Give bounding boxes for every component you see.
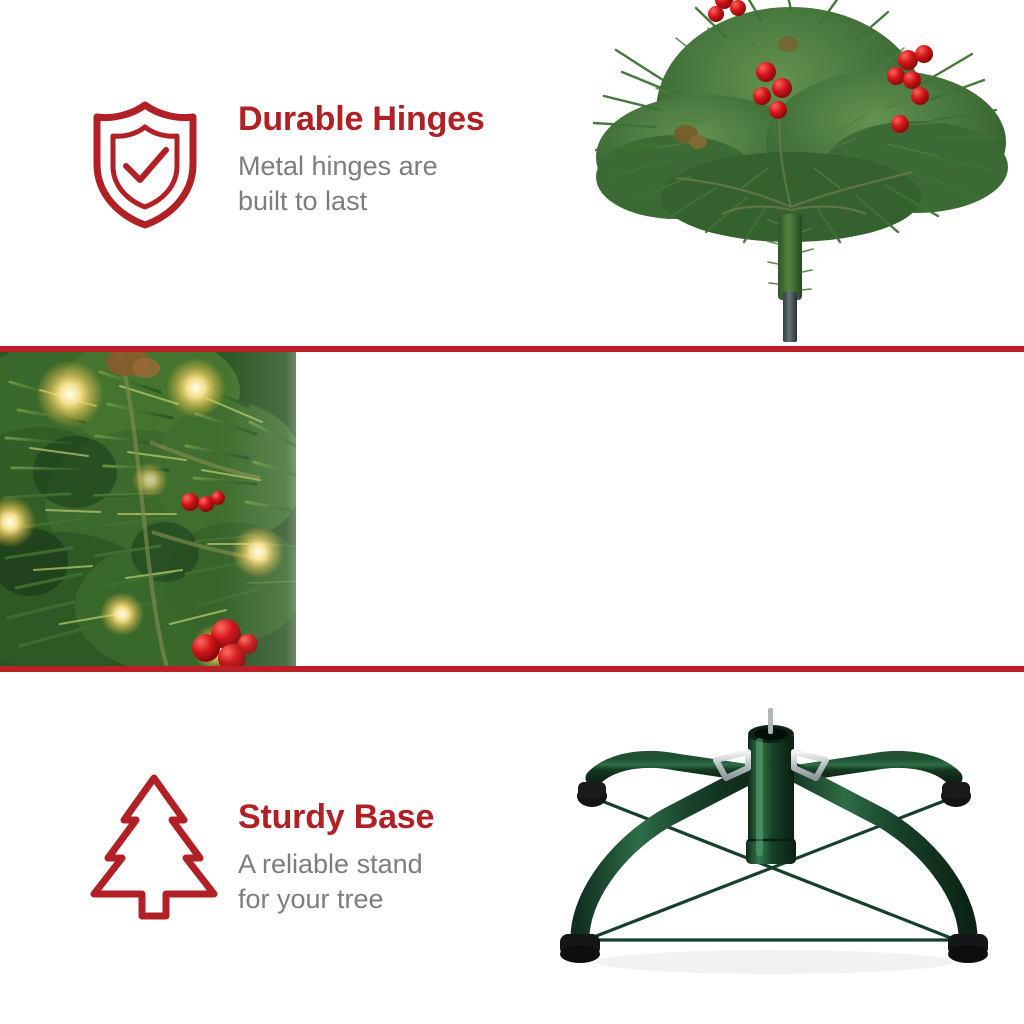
section-durable-hinges: Durable Hinges Metal hinges are built to… [0, 0, 1024, 350]
branch-photo-svg [0, 352, 340, 670]
feature-text-durable-hinges: Durable Hinges Metal hinges are built to… [238, 100, 485, 219]
feature-text-sturdy-base: Sturdy Base A reliable stand for your tr… [238, 798, 434, 917]
section-pvc-branches: PVC Branches Flame-retardant for safety … [0, 352, 1024, 670]
photo-lit-branch-closeup [0, 352, 340, 670]
feature-body-line-1: Metal hinges are [238, 151, 438, 181]
christmas-tree-icon [88, 772, 220, 922]
photo-christmas-tree-branches [556, 0, 1024, 348]
photo-tree-stand [516, 690, 1024, 1020]
feature-body-line-1: A reliable stand [238, 849, 423, 879]
stand-photo-svg [516, 690, 1024, 1020]
feature-body-line-2: for your tree [238, 884, 384, 914]
feature-infographic: Durable Hinges Metal hinges are built to… [0, 0, 1024, 1024]
section-sturdy-base: Sturdy Base A reliable stand for your tr… [0, 672, 1024, 1024]
feature-body-line-2: built to last [238, 186, 367, 216]
tree-photo-svg [556, 0, 1024, 348]
feature-heading: Durable Hinges [238, 100, 485, 139]
feature-heading: Sturdy Base [238, 798, 434, 837]
shield-check-icon [86, 98, 204, 230]
stand-hub [746, 708, 796, 864]
feature-body: Metal hinges are built to last [238, 149, 485, 219]
feature-body: A reliable stand for your tree [238, 847, 434, 917]
